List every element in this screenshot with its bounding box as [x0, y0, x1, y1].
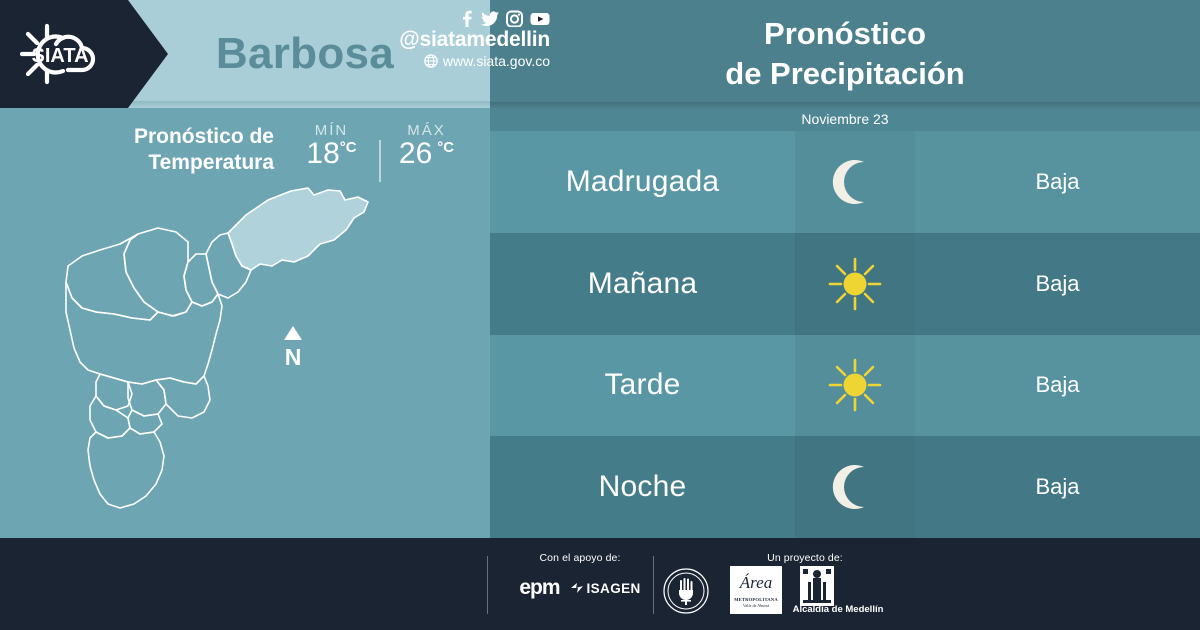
isagen-mark-icon [570, 581, 584, 595]
map-region-southeast [156, 376, 210, 418]
max-label: MÁX [379, 122, 474, 139]
precipitation-panel: Pronóstico de Precipitación Noviembre 23… [490, 0, 1200, 538]
precipitation-level: Baja [1035, 372, 1079, 398]
table-row: Noche Baja [490, 436, 1200, 538]
website-line[interactable]: www.siata.gov.co [300, 52, 550, 70]
row-level-cell: Baja [915, 436, 1200, 538]
instagram-icon[interactable] [506, 10, 523, 27]
map-region-itagui [96, 374, 132, 410]
precipitation-level: Baja [1035, 271, 1079, 297]
siata-logo: SIATA [8, 14, 128, 94]
support-label: Con el apoyo de: [500, 552, 660, 564]
row-icon-cell [795, 436, 915, 538]
isagen-wordmark: ISAGEN [587, 581, 641, 596]
precipitation-level: Baja [1035, 169, 1079, 195]
row-icon-cell [795, 233, 915, 335]
max-unit: °C [437, 139, 454, 156]
period-label: Mañana [588, 267, 698, 301]
facebook-icon[interactable] [459, 10, 474, 27]
period-label: Tarde [604, 368, 680, 402]
map-region-bello [124, 228, 192, 316]
min-max-divider [379, 140, 381, 182]
min-value-wrap: 18°C [284, 137, 379, 171]
area-wordmark: Área [730, 574, 782, 591]
map-region-caldas [88, 428, 164, 508]
north-arrow: N [277, 325, 309, 369]
isagen-logo: ISAGEN [570, 581, 641, 596]
temperature-title-line2: Temperatura [148, 151, 274, 174]
max-value-wrap: 26°C [379, 137, 474, 171]
table-row: Madrugada Baja [490, 131, 1200, 233]
map-region-barbosa [228, 188, 368, 270]
map-region-northwest [66, 234, 158, 320]
social-handle[interactable]: @siatamedellin [300, 28, 550, 52]
north-label: N [277, 346, 309, 369]
website-url: www.siata.gov.co [443, 52, 550, 70]
siata-logo-text: SIATA [31, 45, 88, 67]
period-label: Noche [599, 470, 687, 504]
precipitation-title-line2: de Precipitación [725, 56, 964, 91]
moon-icon [827, 459, 883, 515]
sun-icon [826, 255, 884, 313]
aburra-valley-map [46, 178, 466, 530]
row-period-cell: Mañana [490, 233, 795, 335]
infographic-root: Barbosa SIATA [0, 0, 1200, 630]
row-period-cell: Madrugada [490, 131, 795, 233]
forecast-table: Madrugada Baja Mañana [490, 131, 1200, 538]
precipitation-title: Pronóstico de Precipitación [490, 14, 1200, 95]
epm-logo: epm [519, 576, 559, 600]
row-level-cell: Baja [915, 131, 1200, 233]
table-row: Tarde [490, 335, 1200, 437]
medellin-seal-logo [663, 568, 709, 619]
row-icon-cell [795, 131, 915, 233]
area-metropolitana-logo: Área METROPOLITANA Valle de Aburrá [730, 566, 782, 614]
row-period-cell: Tarde [490, 335, 795, 437]
twitter-icon[interactable] [481, 10, 499, 27]
social-icons [300, 10, 550, 27]
temperature-title-line1: Pronóstico de [134, 125, 274, 148]
row-level-cell: Baja [915, 335, 1200, 437]
support-block: Con el apoyo de: epm ISAGEN [500, 552, 660, 600]
youtube-icon[interactable] [530, 10, 550, 27]
footer-divider-1 [487, 556, 488, 614]
row-period-cell: Noche [490, 436, 795, 538]
max-value: 26 [399, 137, 432, 170]
project-block: Un proyecto de: [715, 552, 895, 564]
forecast-date: Noviembre 23 [490, 108, 1200, 131]
min-max-group: MÍN 18°C MÁX 26°C [284, 122, 474, 184]
alcaldia-label: Alcaldía de Medellín [778, 604, 898, 615]
moon-icon [827, 154, 883, 210]
precipitation-level: Baja [1035, 474, 1079, 500]
sun-icon [826, 356, 884, 414]
project-label: Un proyecto de: [715, 552, 895, 564]
table-row: Mañana [490, 233, 1200, 335]
min-unit: °C [340, 139, 357, 156]
min-value: 18 [306, 137, 339, 170]
row-icon-cell [795, 335, 915, 437]
area-line1: METROPOLITANA [730, 597, 782, 602]
globe-icon [424, 54, 438, 68]
precipitation-title-line1: Pronóstico [764, 16, 926, 51]
map-region-copacabana [184, 254, 218, 306]
period-label: Madrugada [566, 165, 720, 199]
area-line2: Valle de Aburrá [730, 603, 782, 608]
support-logos: epm ISAGEN [500, 576, 660, 600]
min-temperature: MÍN 18°C [284, 122, 379, 184]
temperature-panel: Barbosa SIATA [0, 0, 490, 538]
row-level-cell: Baja [915, 233, 1200, 335]
max-temperature: MÁX 26°C [379, 122, 474, 184]
social-block: @siatamedellin www.siata.gov.co [300, 10, 550, 70]
temperature-title: Pronóstico de Temperatura [48, 124, 274, 175]
min-label: MÍN [284, 122, 379, 139]
map-region-medellin [66, 282, 222, 384]
north-arrow-icon [281, 325, 305, 341]
